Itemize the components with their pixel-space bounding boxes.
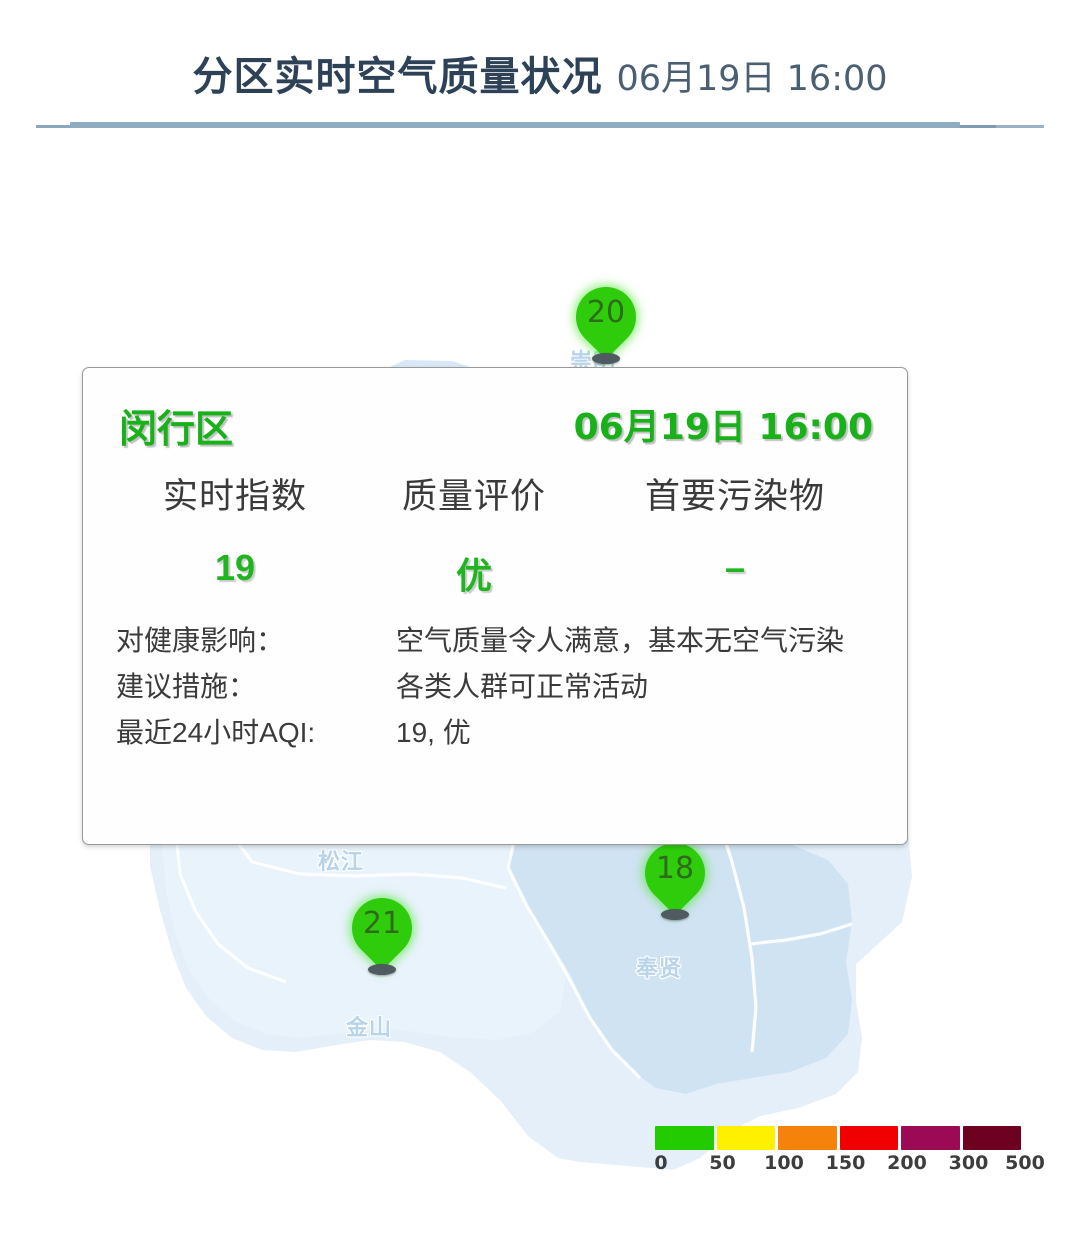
detail-row-aqi-24h: 最近24小时AQI: 19, 优	[116, 712, 886, 754]
metric-primary-pollutant: 首要污染物 –	[597, 468, 873, 599]
detail-row-label: 最近24小时AQI:	[116, 712, 396, 754]
popup-metrics-row: 实时指数 19 质量评价 优 首要污染物 –	[119, 468, 873, 599]
popup-detail-rows: 对健康影响： 空气质量令人满意，基本无空气污染 建议措施： 各类人群可正常活动 …	[116, 620, 886, 758]
page-title: 分区实时空气质量状况06月19日 16:00	[0, 44, 1080, 102]
aqi-marker-fengxian[interactable]: 18	[645, 843, 711, 929]
popup-timestamp: 06月19日 16:00	[574, 398, 873, 450]
aqi-legend-tick: 100	[764, 1152, 804, 1174]
metric-value: –	[597, 547, 873, 589]
aqi-legend-tick: 300	[949, 1152, 989, 1174]
map-pin-base-icon	[592, 353, 620, 364]
aqi-legend-tick: 150	[826, 1152, 866, 1174]
map-pin-base-icon	[661, 909, 689, 920]
metric-header: 质量评价	[351, 468, 597, 519]
aqi-legend-segment-5	[901, 1126, 960, 1150]
aqi-marker-jinshan[interactable]: 21	[352, 898, 418, 984]
aqi-marker-value: 21	[352, 906, 412, 941]
metric-value: 19	[119, 547, 351, 589]
map-label-jinshan: 金山	[346, 1010, 392, 1042]
metric-quality-rating: 质量评价 优	[351, 468, 597, 599]
aqi-legend-tick: 0	[654, 1152, 667, 1174]
detail-row-value: 各类人群可正常活动	[396, 666, 886, 708]
detail-row-label: 对健康影响：	[116, 620, 396, 662]
detail-row-health-impact: 对健康影响： 空气质量令人满意，基本无空气污染	[116, 620, 886, 662]
aqi-legend-segment-2	[717, 1126, 776, 1150]
aqi-legend-ticks: 050100150200300500	[655, 1152, 1021, 1178]
detail-row-label: 建议措施：	[116, 666, 396, 708]
aqi-legend-tick: 200	[887, 1152, 927, 1174]
aqi-marker-chongming[interactable]: 20	[576, 287, 642, 373]
map-label-fengxian: 奉贤	[636, 951, 682, 983]
aqi-legend-segment-1	[655, 1126, 714, 1150]
aqi-legend-segment-4	[840, 1126, 899, 1150]
aqi-legend-tick: 500	[1005, 1152, 1045, 1174]
aqi-marker-value: 18	[645, 851, 705, 886]
aqi-detail-popup[interactable]: 闵行区 06月19日 16:00 实时指数 19 质量评价 优 首要污染物 – …	[82, 367, 908, 845]
aqi-marker-value: 20	[576, 295, 636, 330]
page-title-timestamp: 06月19日 16:00	[616, 59, 887, 99]
page-title-text: 分区实时空气质量状况	[192, 55, 602, 99]
popup-district-name: 闵行区	[119, 398, 233, 453]
detail-row-value: 空气质量令人满意，基本无空气污染	[396, 620, 866, 662]
map-label-songjiang: 松江	[318, 844, 364, 876]
aqi-legend-colorbar	[655, 1126, 1021, 1150]
aqi-legend-tick: 50	[709, 1152, 735, 1174]
metric-value: 优	[351, 547, 597, 599]
map-pin-base-icon	[368, 964, 396, 975]
detail-row-value: 19, 优	[396, 712, 886, 754]
metric-header: 实时指数	[119, 468, 351, 519]
aqi-legend-segment-6	[963, 1126, 1022, 1150]
metric-header: 首要污染物	[597, 468, 873, 519]
page-header: 分区实时空气质量状况06月19日 16:00	[0, 0, 1080, 132]
aqi-legend-segment-3	[778, 1126, 837, 1150]
aqi-legend: 050100150200300500	[655, 1126, 1021, 1184]
header-divider-accent	[70, 122, 960, 128]
metric-realtime-index: 实时指数 19	[119, 468, 351, 599]
popup-header: 闵行区 06月19日 16:00	[119, 398, 873, 446]
detail-row-advice: 建议措施： 各类人群可正常活动	[116, 666, 886, 708]
